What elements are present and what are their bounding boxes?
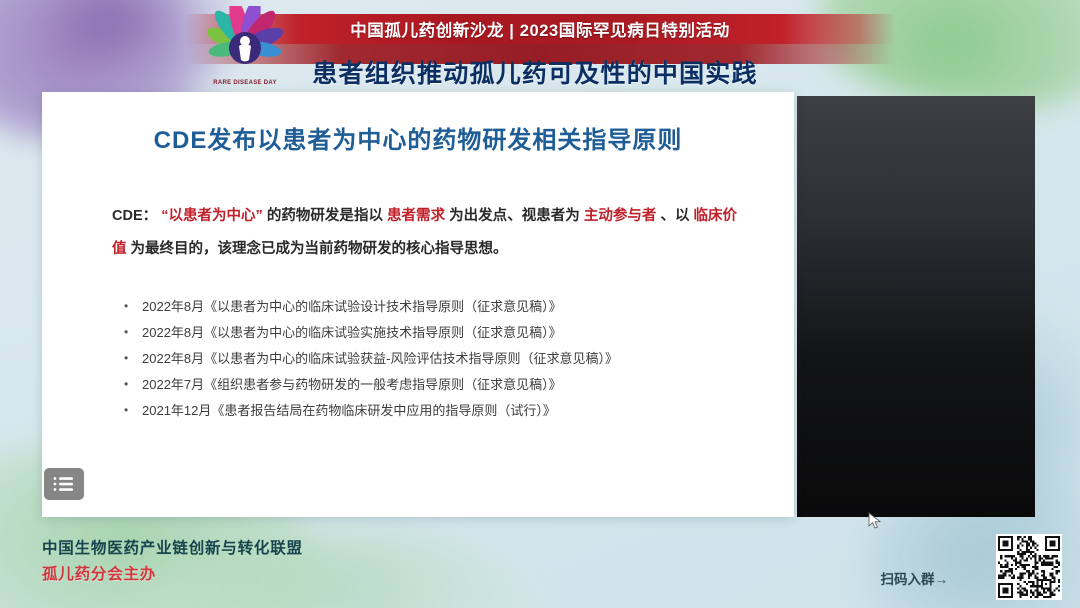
video-panel: 郑维义 [797,96,1035,517]
para-part-3: 为出发点、视患者为 [449,208,580,224]
para-part-4: 、以 [660,208,689,224]
para-part-1: CDE： [112,208,157,224]
event-banner: 中国孤儿药创新沙龙 | 2023国际罕见病日特别活动 [185,14,895,44]
footer-line-1: 中国生物医药产业链创新与转化联盟 [42,536,303,558]
para-highlight-1: “以患者为中心” [161,208,263,224]
rare-disease-day-logo: RARE DISEASE DAY [206,6,284,88]
list-item: 2022年8月《以患者为中心的临床试验设计技术指导原则（征求意见稿）》 [120,294,760,320]
logo-caption: RARE DISEASE DAY [206,80,284,86]
slide-title: CDE发布以患者为中心的药物研发相关指导原则 [42,120,794,155]
page-title: 患者组织推动孤儿药可及性的中国实践 [185,52,885,92]
list-item: 2022年8月《以患者为中心的临床试验实施技术指导原则（征求意见稿）》 [120,320,760,346]
presentation-screen: 中国孤儿药创新沙龙 | 2023国际罕见病日特别活动 患者组织推动孤儿药可及性的… [0,0,1080,608]
event-footer: 中国生物医药产业链创新与转化联盟 孤儿药分会主办 扫码入群→ [0,526,1080,608]
list-item: 2022年8月《以患者为中心的临床试验获益-风险评估技术指导原则（征求意见稿）》 [120,346,760,372]
list-item: 2021年12月《患者报告结局在药物临床研发中应用的指导原则（试行）》 [120,398,760,424]
list-view-icon[interactable] [44,468,84,500]
qr-code[interactable] [996,534,1062,600]
event-banner-text: 中国孤儿药创新沙龙 | 2023国际罕见病日特别活动 [350,17,730,41]
slide-paragraph: CDE： “以患者为中心” 的药物研发是指以 患者需求 为出发点、视患者为 主动… [112,200,737,266]
list-item: 2022年7月《组织患者参与药物研发的一般考虑指导原则（征求意见稿）》 [120,372,760,398]
para-highlight-2: 患者需求 [387,208,445,224]
event-header: 中国孤儿药创新沙龙 | 2023国际罕见病日特别活动 患者组织推动孤儿药可及性的… [0,0,1080,92]
scan-to-join-label: 扫码入群→ [881,568,949,588]
guideline-list: 2022年8月《以患者为中心的临床试验设计技术指导原则（征求意见稿）》 2022… [120,294,760,424]
para-highlight-3: 主动参与者 [584,208,657,224]
para-part-5: 为最终目的，该理念已成为当前药物研发的核心指导思想。 [131,241,508,257]
slide-canvas[interactable]: CDE发布以患者为中心的药物研发相关指导原则 CDE： “以患者为中心” 的药物… [42,92,794,517]
para-part-2: 的药物研发是指以 [267,208,383,224]
footer-line-2: 孤儿药分会主办 [42,562,156,584]
